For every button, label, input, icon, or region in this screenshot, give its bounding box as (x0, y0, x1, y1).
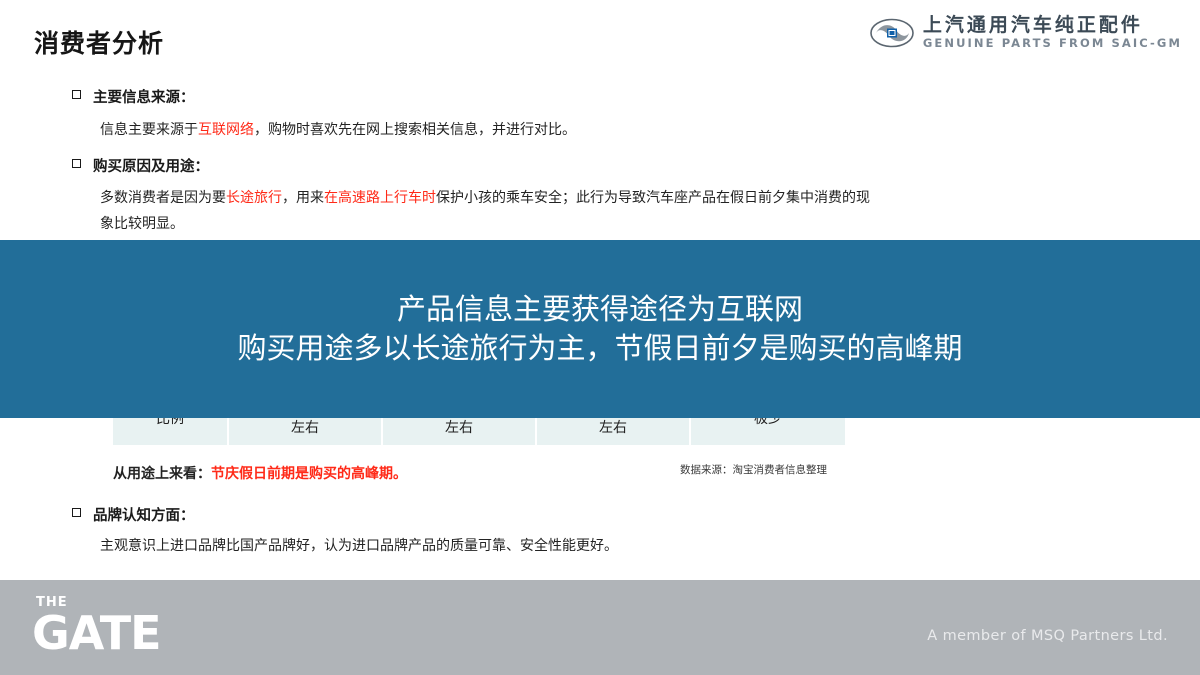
usage-label: 从用途上来看： (113, 466, 211, 482)
logo-english-text: GENUINE PARTS FROM SAIC-GM (923, 38, 1182, 50)
text-suffix: ，购物时喜欢先在网上搜索相关信息，并进行对比。 (254, 122, 576, 138)
brand-logo: 上汽通用汽车纯正配件 GENUINE PARTS FROM SAIC-GM (870, 16, 1182, 50)
overlay-key-message-band: 产品信息主要获得途径为互联网 购买用途多以长途旅行为主，节假日前夕是购买的高峰期 (0, 240, 1200, 418)
saic-gm-emblem-icon (870, 18, 914, 48)
section-heading-purchase-reason: 购买原因及用途： (72, 155, 209, 176)
text-highlight-internet: 互联网络 (198, 122, 254, 138)
section-body-timing-sub3: 从用途上来看：节庆假日前期是购买的高峰期。 (113, 462, 407, 488)
text-prefix: 多数消费者是因为要 (100, 190, 226, 206)
text-highlight-long-trip: 长途旅行 (226, 190, 282, 206)
page-title: 消费者分析 (34, 24, 164, 60)
slide-footer: THE GATE A member of MSQ Partners Ltd. (0, 580, 1200, 675)
cell-qualifier: 左右 (537, 420, 689, 438)
section-body-brand-perception: 主观意识上进口品牌比国产品牌好，认为进口品牌产品的质量可靠、安全性能更好。 (100, 534, 618, 560)
section-heading-label: 主要信息来源： (93, 86, 195, 107)
footer-member-text: A member of MSQ Partners Ltd. (927, 628, 1168, 644)
text-prefix: 信息主要来源于 (100, 122, 198, 138)
cell-qualifier: 左右 (229, 420, 381, 438)
square-bullet-icon (72, 508, 81, 517)
text-second-line: 象比较明显。 (100, 212, 1160, 238)
cell-qualifier: 左右 (383, 420, 535, 438)
section-heading-label: 购买原因及用途： (93, 155, 209, 176)
footer-brand-gate: GATE (32, 606, 161, 660)
data-source-note: 数据来源：淘宝消费者信息整理 (680, 462, 827, 477)
overlay-line-2: 购买用途多以长途旅行为主，节假日前夕是购买的高峰期 (237, 329, 962, 368)
text-suffix: 保护小孩的乘车安全；此行为导致汽车座产品在假日前夕集中消费的现 (436, 190, 870, 206)
section-body-purchase-reason: 多数消费者是因为要长途旅行，用来在高速路上行车时保护小孩的乘车安全；此行为导致汽… (100, 186, 1160, 238)
slide-canvas: 消费者分析 上汽通用汽车纯正配件 GENUINE PARTS FROM SAIC… (0, 0, 1200, 675)
section-body-info-source: 信息主要来源于互联网络，购物时喜欢先在网上搜索相关信息，并进行对比。 (100, 118, 576, 144)
square-bullet-icon (72, 159, 81, 168)
usage-highlight: 节庆假日前期是购买的高峰期。 (211, 466, 407, 482)
overlay-line-1: 产品信息主要获得途径为互联网 (397, 290, 803, 329)
section-heading-brand-perception: 品牌认知方面： (72, 504, 195, 525)
section-heading-label: 品牌认知方面： (93, 504, 195, 525)
text-highlight-highway-driving: 在高速路上行车时 (324, 190, 436, 206)
square-bullet-icon (72, 90, 81, 99)
text-mid: ，用来 (282, 190, 324, 206)
section-heading-info-source: 主要信息来源： (72, 86, 195, 107)
logo-chinese-text: 上汽通用汽车纯正配件 (923, 16, 1182, 35)
